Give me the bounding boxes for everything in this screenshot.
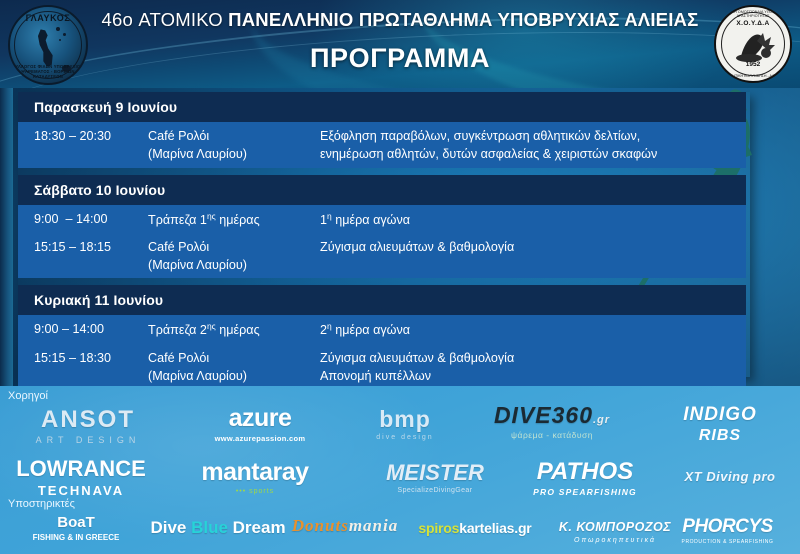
glafkos-club-logo: ΓΛΑΥΚΟΣ ΣΥΛΛΟΓΟΣ ΦΙΛΩΝ ΥΠΟΒΡΥΧΙΟΥ ΨΑΡΕΜΑ… [8, 5, 88, 85]
row-place-line2: (Μαρίνα Λαυρίου) [148, 145, 320, 163]
row-place-line1: Café Ρολόι [148, 238, 320, 256]
schedule-row: 15:15 – 18:30 Café Ρολόι (Μαρίνα Λαυρίου… [18, 344, 746, 386]
row-time: 15:15 – 18:30 [18, 349, 148, 386]
federation-rim-bottom: ΑΘΛΗΤΙΚΗ ΚΟΛΥΜΒΗΣΗ - ΑΛΙΕΙΑ [716, 74, 790, 78]
supporter-dive-blue-dream[interactable]: Dive Blue Dream [148, 518, 288, 538]
sponsors-area: Χορηγοί ANSOT ART DESIGN azure www.azure… [0, 386, 800, 554]
sponsor-dive360-tagline: ψάρεμα - κατάδυση [462, 430, 642, 440]
sponsor-meister-tagline: SpecializeDivingGear [360, 487, 510, 494]
row-desc-line2: Απονομή κυπέλλων [320, 367, 738, 385]
page-title: ΠΡΟΓΡΑΜΜΑ [96, 43, 704, 74]
row-desc-line1: Ζύγισμα αλιευμάτων & βαθμολογία [320, 349, 738, 367]
row-place-pre: Τράπεζα 2 [148, 324, 207, 338]
supporter-dbd-word2: Blue [191, 518, 228, 537]
schedule-area: Παρασκευή 9 Ιουνίου 18:30 – 20:30 Café Ρ… [0, 88, 800, 386]
bubble-icon [63, 33, 66, 36]
row-place: Café Ρολόι (Μαρίνα Λαυρίου) [148, 238, 320, 275]
supporter-phorcys[interactable]: PHORCYS PRODUCTION & SPEARFISHING [660, 516, 795, 545]
schedule-row: 18:30 – 20:30 Café Ρολόι (Μαρίνα Λαυρίου… [18, 122, 746, 168]
day-header-saturday: Σάββατο 10 Ιουνίου [18, 175, 746, 205]
sponsor-pathos[interactable]: PATHOS PRO SPEARFISHING [510, 458, 660, 497]
supporter-boat-sub: FISHING & IN GREECE [6, 533, 146, 542]
sponsor-ansot-name: ANSOT [41, 406, 135, 433]
section-gap [18, 278, 746, 285]
row-description: Εξόφληση παραβόλων, συγκέντρωση αθλητικώ… [320, 127, 746, 164]
row-place: Τράπεζα 1ης ημέρας [148, 210, 320, 229]
federation-logo-name: Χ.Ο.Υ.Δ.Α [716, 20, 790, 27]
championship-title: 46o ΑΤΟΜΙΚΟ ΠΑΝΕΛΛΗΝΙΟ ΠΡΩΤΑΘΛΗΜΑ ΥΠΟΒΡΥ… [96, 9, 704, 31]
schedule-table: Παρασκευή 9 Ιουνίου 18:30 – 20:30 Café Ρ… [18, 92, 746, 386]
sponsor-lowrance-sub: TECHNAVA [6, 483, 156, 498]
schedule-row: 9:00 – 14:00 Τράπεζα 1ης ημέρας 1η ημέρα… [18, 205, 746, 233]
sponsor-azure-name: azure [229, 404, 292, 432]
sponsor-mantaray[interactable]: mantaray ••• sports [165, 458, 345, 495]
glafkos-logo-subtext: ΣΥΛΛΟΓΟΣ ΦΙΛΩΝ ΥΠΟΒΡΥΧΙΟΥ ΨΑΡΕΜΑΤΟΣ - ΒΟ… [10, 64, 86, 79]
row-time: 18:30 – 20:30 [18, 127, 148, 164]
row-desc-line2: ενημέρωση αθλητών, δυτών ασφαλείας & χει… [320, 145, 738, 163]
row-time: 9:00 – 14:00 [18, 210, 148, 229]
schedule-row: 9:00 – 14:00 Τράπεζα 2ης ημέρας 2η ημέρα… [18, 315, 746, 343]
sponsor-ansot[interactable]: ANSOT ART DESIGN [8, 406, 168, 445]
supporter-phorcys-sub: PRODUCTION & SPEARFISHING [660, 539, 795, 545]
left-edge-strip [0, 88, 13, 386]
supporter-dbd-name: Dive Blue Dream [150, 518, 285, 537]
sponsor-xtd-name: XT Diving pro [685, 469, 776, 484]
sponsor-mantaray-name: mantaray [201, 458, 308, 486]
supporters-label: Υποστηρικτές [8, 498, 75, 510]
sponsor-pathos-name: PATHOS [537, 458, 633, 485]
sponsor-dive360-suffix: .gr [593, 414, 610, 426]
sponsor-meister-name: MEISTER [386, 460, 484, 485]
day-header-friday: Παρασκευή 9 Ιουνίου [18, 92, 746, 122]
section-gap [18, 168, 746, 175]
supporter-spiros-word1: spiros [418, 520, 459, 536]
sponsor-azure-url: www.azurepassion.com [180, 434, 340, 443]
championship-title-prefix: 46o ΑΤΟΜΙΚΟ [102, 9, 229, 30]
sponsor-indigo-name: INDIGO [683, 404, 757, 425]
glafkos-logo-name: ΓΛΑΥΚΟΣ [10, 13, 86, 23]
row-time: 9:00 – 14:00 [18, 320, 148, 339]
supporter-boat-fishing[interactable]: BoaT FISHING & IN GREECE [6, 514, 146, 542]
row-desc-pre: 1 [320, 213, 327, 227]
supporter-dbd-word3: Dream [228, 518, 286, 537]
row-place: Café Ρολόι (Μαρίνα Λαυρίου) [148, 349, 320, 386]
row-place-line2: (Μαρίνα Λαυρίου) [148, 367, 320, 385]
supporter-donuts-word1: Donuts [292, 516, 349, 535]
row-description: Ζύγισμα αλιευμάτων & βαθμολογία Απονομή … [320, 349, 746, 386]
day-body-friday: 18:30 – 20:30 Café Ρολόι (Μαρίνα Λαυρίου… [18, 122, 746, 168]
sponsor-indigo-ribs[interactable]: INDIGO RIBS [650, 404, 790, 445]
day-header-sunday: Κυριακή 11 Ιουνίου [18, 285, 746, 315]
sponsor-dive360-name: DIVE360.gr [494, 402, 610, 428]
federation-logo: ΕΛΛΗΝΙΚΗ ΟΜΟΣΠΟΝΔΙΑ ΥΠΟΒΡΥΧΙΑΣ ΔΡΑΣΤΗΡΙΟ… [714, 5, 792, 83]
sponsor-dive360-word: DIVE360 [494, 402, 593, 428]
row-desc-line1: Εξόφληση παραβόλων, συγκέντρωση αθλητικώ… [320, 127, 738, 145]
supporter-spiros-name: spiroskartelias.gr [418, 520, 531, 536]
federation-logo-year: 1952 [716, 61, 790, 68]
sponsor-xt-diving-pro[interactable]: XT Diving pro [665, 468, 795, 486]
sponsor-bmp-tagline: dive design [335, 434, 475, 441]
row-place-line1: Café Ρολόι [148, 127, 320, 145]
row-place-line1: Café Ρολόι [148, 349, 320, 367]
row-place-pre: Τράπεζα 1 [148, 213, 207, 227]
federation-rim-top: ΕΛΛΗΝΙΚΗ ΟΜΟΣΠΟΝΔΙΑ ΥΠΟΒΡΥΧΙΑΣ ΔΡΑΣΤΗΡΙΟ… [716, 10, 790, 18]
poster-header: 46o ΑΤΟΜΙΚΟ ΠΑΝΕΛΛΗΝΙΟ ΠΡΩΤΑΘΛΗΜΑ ΥΠΟΒΡΥ… [0, 0, 800, 88]
supporter-spiroskartelias[interactable]: spiroskartelias.gr [400, 520, 550, 538]
bubble-icon [56, 27, 60, 31]
sponsor-ansot-tagline: ART DESIGN [8, 435, 168, 445]
federation-emblem-icon [733, 27, 777, 65]
row-place: Τράπεζα 2ης ημέρας [148, 320, 320, 339]
supporter-spiros-word2: kartelias.gr [459, 520, 531, 536]
row-description: 2η ημέρα αγώνα [320, 320, 746, 339]
supporter-donutsmania[interactable]: Donutsmania [280, 516, 410, 536]
row-desc-pre: 2 [320, 324, 327, 338]
day-body-saturday: 9:00 – 14:00 Τράπεζα 1ης ημέρας 1η ημέρα… [18, 205, 746, 279]
sponsor-dive360[interactable]: DIVE360.gr ψάρεμα - κατάδυση [462, 402, 642, 440]
sponsor-meister[interactable]: MEISTER SpecializeDivingGear [360, 460, 510, 494]
row-place-post: ημέρας [216, 324, 260, 338]
poster-root: 46o ΑΤΟΜΙΚΟ ΠΑΝΕΛΛΗΝΙΟ ΠΡΩΤΑΘΛΗΜΑ ΥΠΟΒΡΥ… [0, 0, 800, 554]
bubble-icon [59, 39, 61, 41]
day-body-sunday: 9:00 – 14:00 Τράπεζα 2ης ημέρας 2η ημέρα… [18, 315, 746, 386]
row-desc-post: ημέρα αγώνα [332, 324, 410, 338]
supporter-kompo-name: Κ. ΚΟΜΠΟΡΟΖΟΣ [559, 520, 671, 534]
supporter-donuts-word2: mania [349, 516, 398, 535]
supporter-dbd-word1: Dive [150, 518, 191, 537]
row-place-post: ημέρας [216, 213, 260, 227]
header-title-block: 46o ΑΤΟΜΙΚΟ ΠΑΝΕΛΛΗΝΙΟ ΠΡΩΤΑΘΛΗΜΑ ΥΠΟΒΡΥ… [96, 9, 704, 74]
supporter-donuts-name: Donutsmania [292, 516, 398, 535]
row-description: Ζύγισμα αλιευμάτων & βαθμολογία [320, 238, 746, 275]
supporter-phorcys-name: PHORCYS [682, 516, 772, 537]
sponsor-mantaray-sub: ••• sports [165, 488, 345, 495]
sponsors-label: Χορηγοί [8, 390, 48, 402]
schedule-row: 15:15 – 18:15 Café Ρολόι (Μαρίνα Λαυρίου… [18, 233, 746, 279]
championship-title-main: ΠΑΝΕΛΛΗΝΙΟ ΠΡΩΤΑΘΛΗΜΑ ΥΠΟΒΡΥΧΙΑΣ ΑΛΙΕΙΑΣ [228, 9, 698, 30]
sponsor-lowrance-name: LOWRANCE [16, 456, 146, 481]
sponsor-azure[interactable]: azure www.azurepassion.com [180, 404, 340, 443]
row-place-sup: ης [207, 321, 216, 331]
row-desc-post: ημέρα αγώνα [332, 213, 410, 227]
supporter-boat-name: BoaT [57, 514, 95, 531]
sponsor-bmp[interactable]: bmp dive design [335, 406, 475, 441]
sponsor-bmp-name: bmp [379, 406, 431, 432]
row-place-line2: (Μαρίνα Λαυρίου) [148, 256, 320, 274]
sponsor-pathos-tagline: PRO SPEARFISHING [510, 487, 660, 497]
row-time: 15:15 – 18:15 [18, 238, 148, 275]
row-desc-line1: Ζύγισμα αλιευμάτων & βαθμολογία [320, 238, 738, 256]
row-place: Café Ρολόι (Μαρίνα Λαυρίου) [148, 127, 320, 164]
row-place-sup: ης [207, 211, 216, 221]
sponsor-indigo-sub: RIBS [650, 427, 790, 445]
row-description: 1η ημέρα αγώνα [320, 210, 746, 229]
sponsor-lowrance[interactable]: LOWRANCE TECHNAVA [6, 456, 156, 498]
